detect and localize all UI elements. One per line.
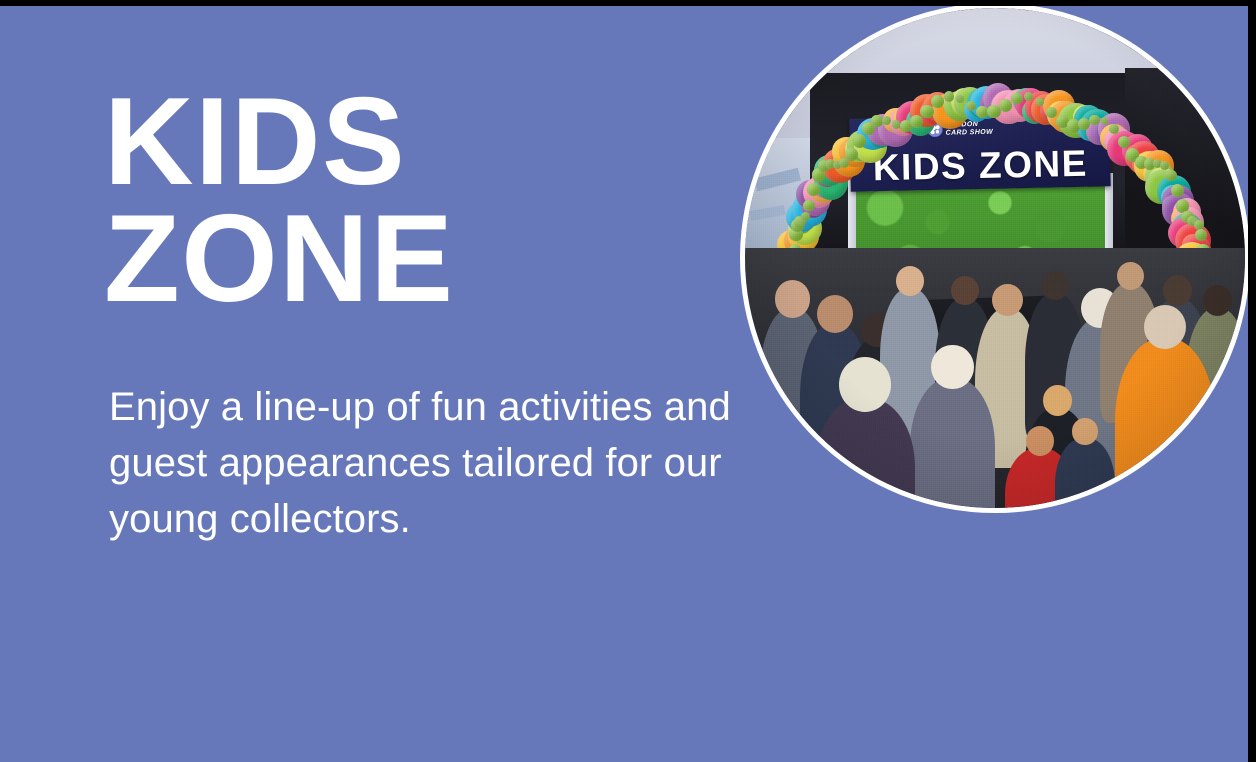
crowd-figure-head xyxy=(1026,426,1054,455)
balloon xyxy=(1160,161,1169,170)
page-title: KIDS ZONE xyxy=(104,84,454,318)
balloon xyxy=(920,105,933,118)
crowd-figure-head xyxy=(896,266,925,296)
balloon xyxy=(1171,184,1184,197)
balloon xyxy=(1101,117,1109,125)
hero-description: Enjoy a line-up of fun activities and gu… xyxy=(109,379,749,547)
crowd-figure-head xyxy=(1144,305,1186,349)
balloon xyxy=(910,115,923,128)
balloon xyxy=(1046,107,1057,118)
balloon xyxy=(845,148,857,160)
crowd-figure-head xyxy=(931,345,974,390)
balloon xyxy=(853,134,866,147)
balloon xyxy=(1118,136,1130,148)
hero-banner: KIDS ZONE Enjoy a line-up of fun activit… xyxy=(0,0,1256,762)
crowd-figure-head xyxy=(817,295,853,333)
crowd-figure-head xyxy=(775,280,811,318)
balloon xyxy=(956,95,964,103)
balloon xyxy=(944,91,954,101)
balloon xyxy=(1165,170,1176,181)
photo-scene: LONDON CARD SHOW KIDS ZONE xyxy=(745,8,1245,508)
crowd-figure-head xyxy=(1117,262,1144,290)
balloon xyxy=(801,212,810,221)
balloon xyxy=(871,115,882,126)
crowd-figure-head xyxy=(839,357,891,412)
letterbox-top xyxy=(0,0,1256,6)
hero-panel: KIDS ZONE Enjoy a line-up of fun activit… xyxy=(0,6,1248,762)
kids-zone-photo: LONDON CARD SHOW KIDS ZONE xyxy=(740,6,1248,513)
letterbox-right xyxy=(1248,0,1256,762)
crowd-figure xyxy=(910,378,995,508)
crowd-figure-head xyxy=(951,276,979,305)
balloon xyxy=(1089,115,1099,125)
crowd-figure-head xyxy=(1041,271,1069,300)
balloon xyxy=(931,95,943,107)
crowd-figure-head xyxy=(1072,418,1097,444)
